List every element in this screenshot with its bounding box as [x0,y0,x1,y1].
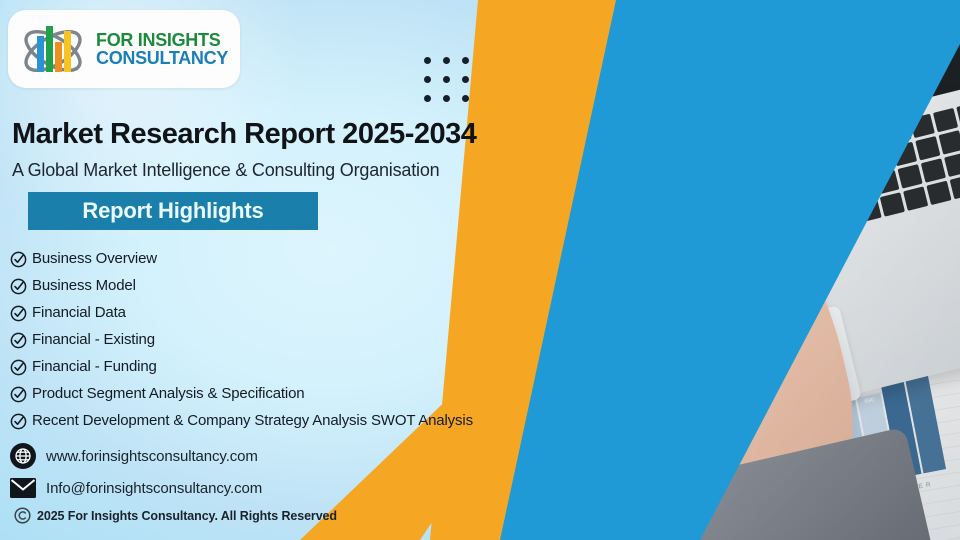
website-label: www.forinsightsconsultancy.com [46,448,258,465]
dot [462,95,469,102]
list-item-label: Business Model [32,277,136,296]
list-item-label: Business Overview [32,250,157,269]
list-item-label: Recent Development & Company Strategy An… [32,412,473,431]
dot [462,76,469,83]
dot-grid-decoration [424,57,469,102]
logo-line-1: FOR INSIGHTS [96,31,228,49]
list-item: Product Segment Analysis & Specification [10,385,510,409]
highlights-list: Business Overview Business Model Financi… [10,250,510,439]
list-item: Recent Development & Company Strategy An… [10,412,510,436]
copyright-icon [14,507,31,524]
list-item: Financial - Existing [10,331,510,355]
check-circle-icon [10,332,27,355]
email-row[interactable]: Info@forinsightsconsultancy.com [10,475,337,501]
list-item: Business Overview [10,250,510,274]
check-circle-icon [10,278,27,301]
list-item-label: Financial Data [32,304,126,323]
bar-chart-globe-logo-icon [16,18,90,80]
check-circle-icon [10,305,27,328]
page-title: Market Research Report 2025-2034 [12,118,476,151]
list-item: Business Model [10,277,510,301]
list-item-label: Financial - Funding [32,358,157,377]
dot [424,76,431,83]
page-subtitle: A Global Market Intelligence & Consultin… [12,160,439,181]
report-highlights-badge-label: Report Highlights [82,198,263,224]
envelope-icon [10,475,36,501]
globe-icon [10,443,36,469]
company-logo[interactable]: FOR INSIGHTS CONSULTANCY [8,10,240,88]
check-circle-icon [10,386,27,409]
dot [424,95,431,102]
contact-block: www.forinsightsconsultancy.com Info@fori… [10,443,337,524]
check-circle-icon [10,251,27,274]
website-row[interactable]: www.forinsightsconsultancy.com [10,443,337,469]
logo-wordmark: FOR INSIGHTS CONSULTANCY [96,31,228,68]
copyright-label: 2025 For Insights Consultancy. All Right… [37,509,337,523]
list-item-label: Financial - Existing [32,331,155,350]
copyright-row: 2025 For Insights Consultancy. All Right… [14,507,337,524]
dot [443,95,450,102]
check-circle-icon [10,413,27,436]
email-label: Info@forinsightsconsultancy.com [46,480,262,497]
dot [462,57,469,64]
marketing-banner: 4 2 1 6 5 7 9 7 3 5 APARTMENT HOUSE F AN… [0,0,960,540]
list-item: Financial - Funding [10,358,510,382]
list-item-label: Product Segment Analysis & Specification [32,385,304,404]
report-highlights-badge: Report Highlights [28,192,318,230]
check-circle-icon [10,359,27,382]
list-item: Financial Data [10,304,510,328]
dot [443,57,450,64]
dot [424,57,431,64]
logo-line-2: CONSULTANCY [96,49,228,67]
dot [443,76,450,83]
